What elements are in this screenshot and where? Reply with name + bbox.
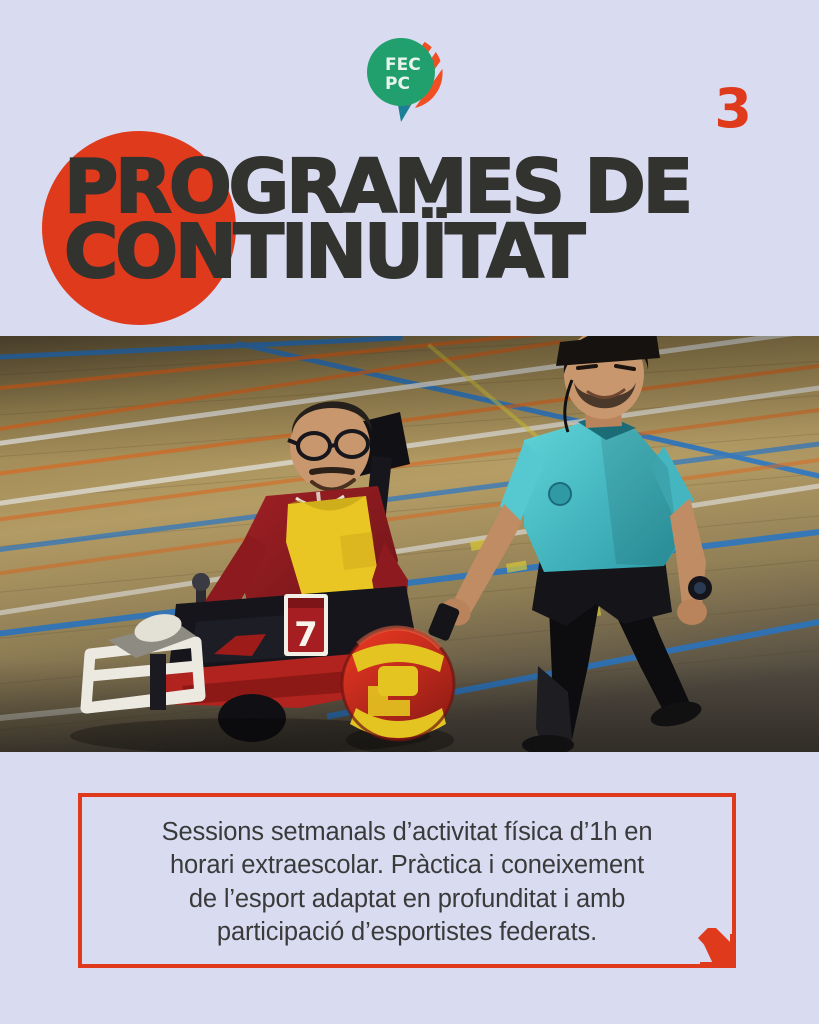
- player-number-plate: 7: [284, 594, 328, 656]
- svg-text:7: 7: [294, 615, 318, 655]
- logo-text-line1: FEC: [385, 55, 421, 75]
- arrow-down-right-icon: [694, 928, 736, 968]
- poster-root: FEC PC 3 PROGRAMES DE CONTINUÏTAT: [0, 0, 819, 1024]
- hero-photo-illustration: 7: [0, 336, 819, 752]
- callout-text: Sessions setmanals d’activitat física d’…: [78, 793, 736, 968]
- powerchair-football-ball: [342, 628, 454, 752]
- title-block: PROGRAMES DE CONTINUÏTAT: [0, 120, 819, 325]
- hero-photo: 7: [0, 336, 819, 752]
- fecpc-logo: FEC PC: [357, 30, 465, 122]
- page-title: PROGRAMES DE CONTINUÏTAT: [64, 155, 784, 285]
- logo-text-line2: PC: [385, 74, 410, 94]
